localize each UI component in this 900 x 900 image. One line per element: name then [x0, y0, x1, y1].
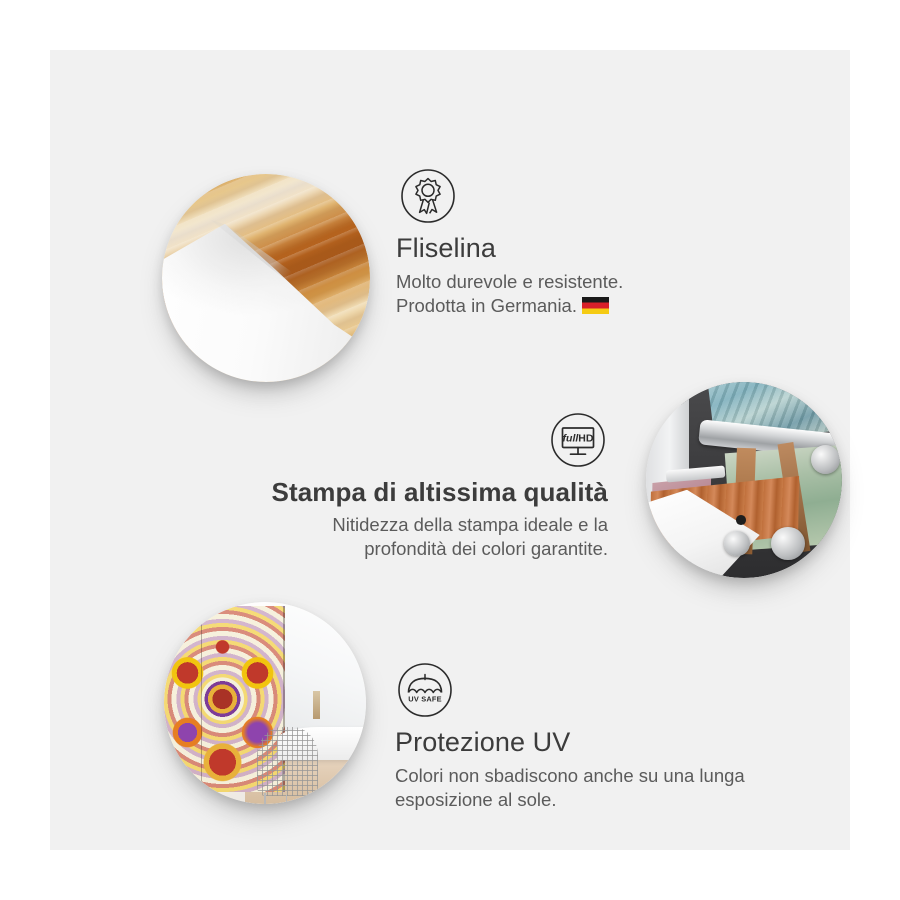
feature-description-line: profondità dei colori garantite. — [268, 537, 608, 561]
printer-knob — [724, 531, 749, 556]
mandala-mural-interior-photo — [164, 602, 366, 804]
award-ribbon-icon — [400, 168, 456, 224]
feature-block-fliselina: Fliselina Molto durevole e resistente. P… — [396, 168, 726, 319]
printer-screw — [736, 515, 746, 525]
chair-leg — [264, 793, 266, 804]
wallpaper-peeling-corner-photo — [162, 174, 370, 382]
fullhd-monitor-icon: fullHD — [550, 412, 606, 468]
uv-safe-umbrella-icon: UV SAFE — [397, 662, 453, 718]
wire-chair — [257, 727, 318, 796]
wallpaper-seam — [201, 606, 202, 792]
feature-description-text: Prodotta in Germania. — [396, 295, 577, 316]
wide-format-printer-photo — [646, 382, 842, 578]
feature-description-line: esposizione al sole. — [395, 788, 775, 812]
fullhd-label: fullHD — [563, 432, 594, 444]
chair-leg — [286, 795, 288, 804]
chair-leg — [308, 792, 310, 804]
printer-knob — [771, 527, 804, 560]
uv-safe-label: UV SAFE — [408, 695, 441, 704]
feature-description-line: Nitidezza della stampa ideale e la — [268, 513, 608, 537]
feature-description-line: Molto durevole e resistente. — [396, 270, 726, 294]
feature-block-quality: fullHD Stampa di altissima qualità Nitid… — [268, 412, 608, 561]
feature-description: Molto durevole e resistente. Prodotta in… — [396, 270, 726, 319]
candlestick — [313, 691, 319, 719]
window-light — [281, 602, 366, 747]
feature-description: Colori non sbadiscono anche su una lunga… — [395, 764, 775, 813]
feature-description-line-with-flag: Prodotta in Germania. — [396, 294, 726, 318]
feature-block-uv: UV SAFE Protezione UV Colori non sbadisc… — [395, 662, 775, 813]
feature-description-line: Colori non sbadiscono anche su una lunga — [395, 764, 775, 788]
feature-description: Nitidezza della stampa ideale e la profo… — [268, 513, 608, 562]
feature-title: Fliselina — [396, 234, 726, 264]
printer-knob — [811, 445, 840, 474]
feature-title: Protezione UV — [395, 728, 775, 758]
feature-title: Stampa di altissima qualità — [268, 478, 608, 507]
content-panel: Fliselina Molto durevole e resistente. P… — [50, 50, 850, 850]
german-flag-icon — [582, 297, 609, 314]
infographic-page: Fliselina Molto durevole e resistente. P… — [0, 0, 900, 900]
